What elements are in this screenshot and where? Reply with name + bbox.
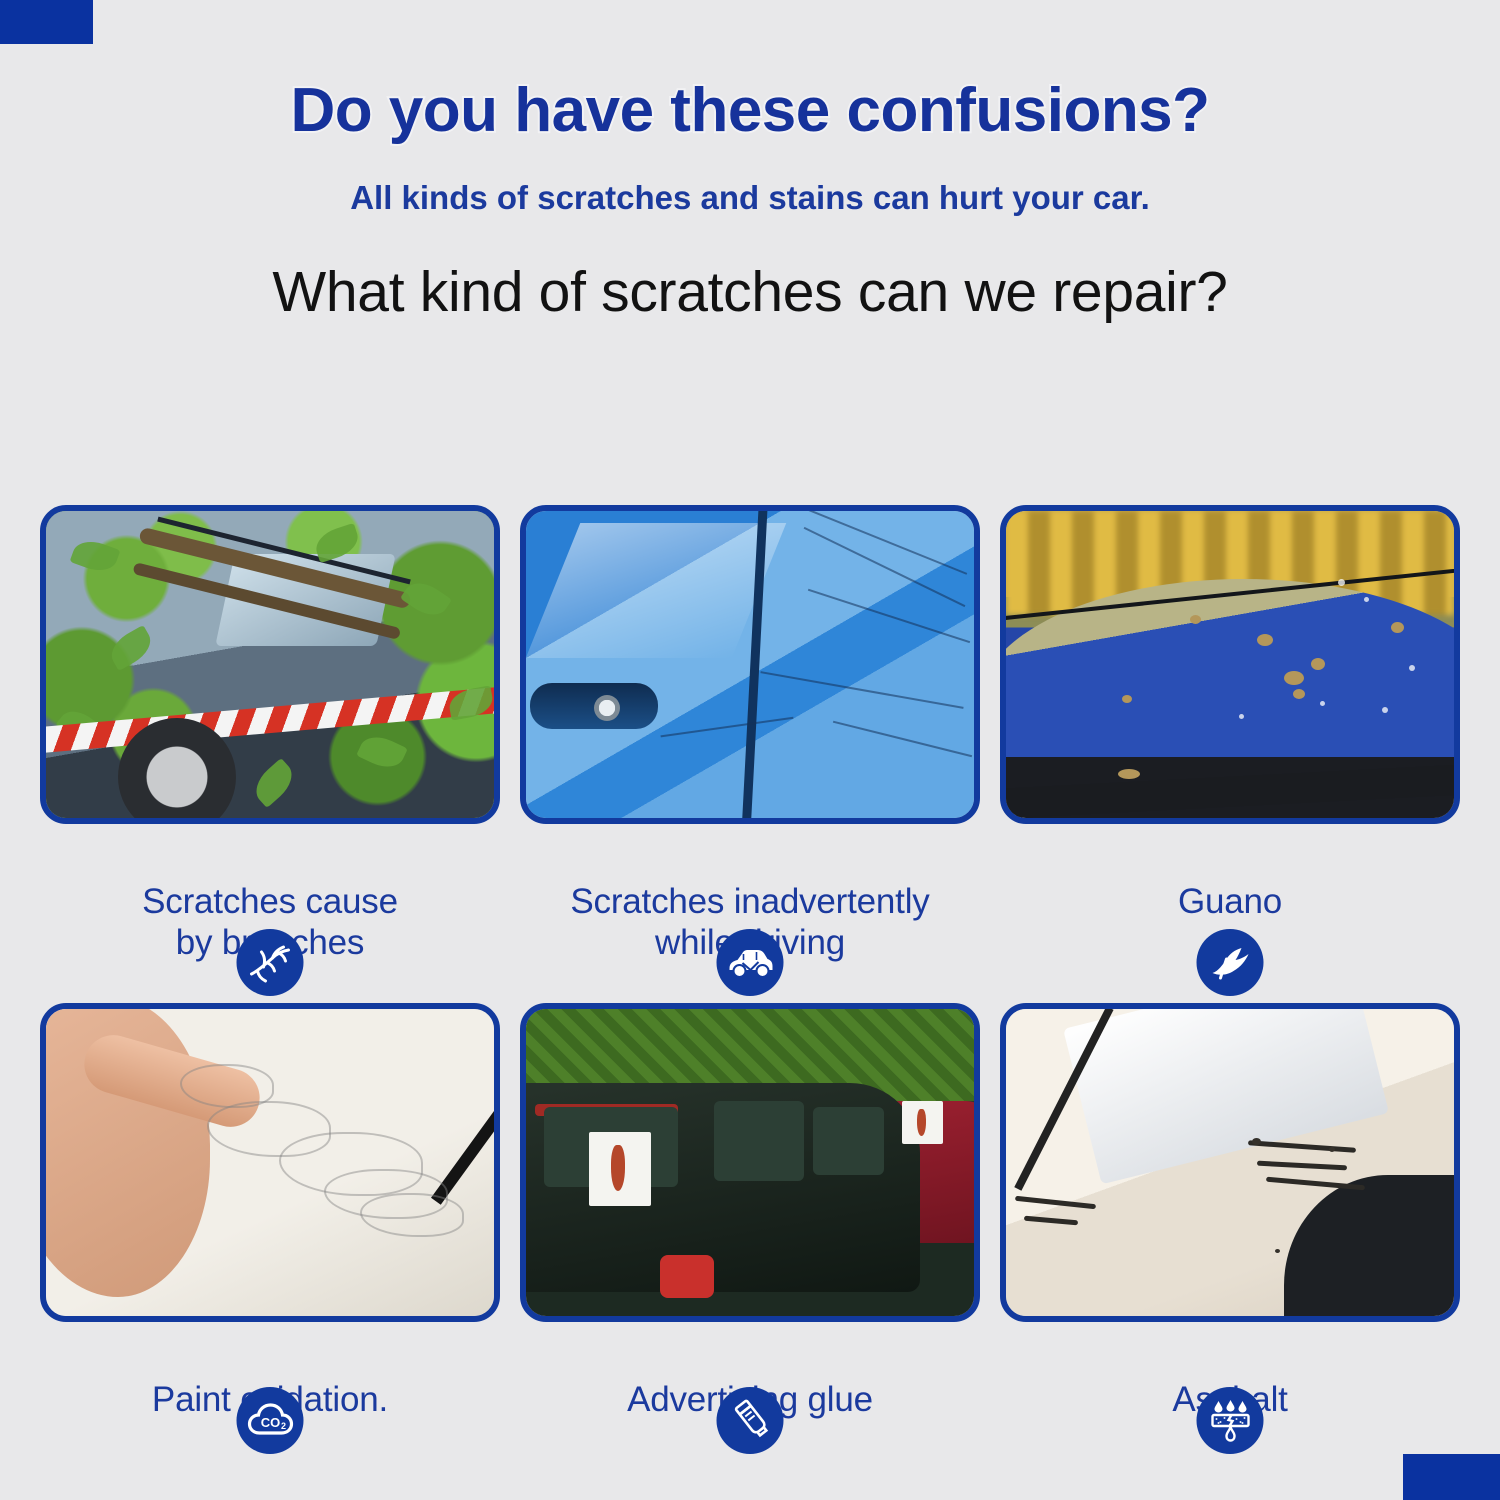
page-title: Do you have these confusions? <box>0 78 1500 143</box>
svg-text:CO: CO <box>260 1415 280 1430</box>
photo-branches <box>46 511 494 818</box>
photo-paint-oxidation <box>46 1009 494 1316</box>
photo-guano <box>1006 511 1454 818</box>
grid-row-2: CO 2 Paint oxidation. <box>0 1003 1500 1421</box>
corner-accent-bottom-right <box>1403 1454 1500 1500</box>
card-scratches-by-branches[interactable]: Scratches cause by branches <box>40 505 500 963</box>
header-block: Do you have these confusions? All kinds … <box>0 0 1500 325</box>
card-image-frame <box>520 1003 980 1322</box>
car-side-icon <box>717 929 784 996</box>
bird-icon <box>1197 929 1264 996</box>
photo-asphalt <box>1006 1009 1454 1316</box>
page-subtitle: All kinds of scratches and stains can hu… <box>0 179 1500 217</box>
glue-tube-icon <box>717 1387 784 1454</box>
asphalt-drip-icon <box>1197 1387 1264 1454</box>
svg-text:2: 2 <box>280 1421 285 1431</box>
photo-advertising-glue <box>526 1009 974 1316</box>
card-image-frame <box>1000 505 1460 824</box>
card-image-frame <box>40 505 500 824</box>
card-image-frame <box>1000 1003 1460 1322</box>
scratch-type-grid: Scratches cause by branches <box>0 505 1500 1421</box>
card-scratches-while-driving[interactable]: Scratches inadvertently while driving <box>520 505 980 963</box>
card-image-frame <box>40 1003 500 1322</box>
section-question: What kind of scratches can we repair? <box>0 259 1500 325</box>
card-image-frame <box>520 505 980 824</box>
card-guano[interactable]: Guano <box>1000 505 1460 963</box>
card-paint-oxidation[interactable]: CO 2 Paint oxidation. <box>40 1003 500 1421</box>
co2-cloud-icon: CO 2 <box>237 1387 304 1454</box>
card-advertising-glue[interactable]: Advertising glue <box>520 1003 980 1421</box>
photo-door-scratch <box>526 511 974 818</box>
card-asphalt[interactable]: Asphalt <box>1000 1003 1460 1421</box>
grid-row-1: Scratches cause by branches <box>0 505 1500 963</box>
tree-branch-icon <box>237 929 304 996</box>
card-caption: Guano <box>1000 882 1460 923</box>
